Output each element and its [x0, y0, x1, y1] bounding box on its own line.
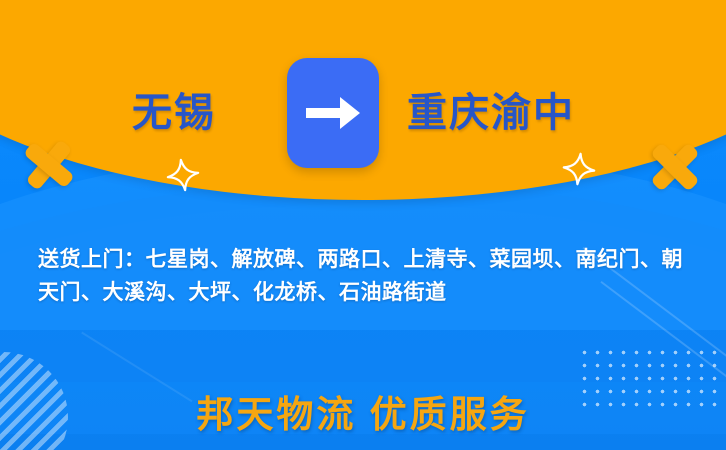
logistics-route-banner: 无锡 重庆渝中 送货上门：七星岗、解放碑、两路口、上清寺、菜园坝、南纪门、朝天门… — [0, 0, 726, 450]
route-arrow-button[interactable] — [287, 58, 379, 168]
company-slogan: 邦天物流 优质服务 — [0, 384, 726, 438]
destination-city-label: 重庆渝中 — [407, 93, 637, 133]
route-row: 无锡 重庆渝中 — [0, 58, 726, 168]
origin-city-label: 无锡 — [89, 93, 259, 133]
delivery-areas-text: 送货上门：七星岗、解放碑、两路口、上清寺、菜园坝、南纪门、朝天门、大溪沟、大坪、… — [38, 244, 698, 309]
arrow-right-icon — [304, 91, 362, 135]
